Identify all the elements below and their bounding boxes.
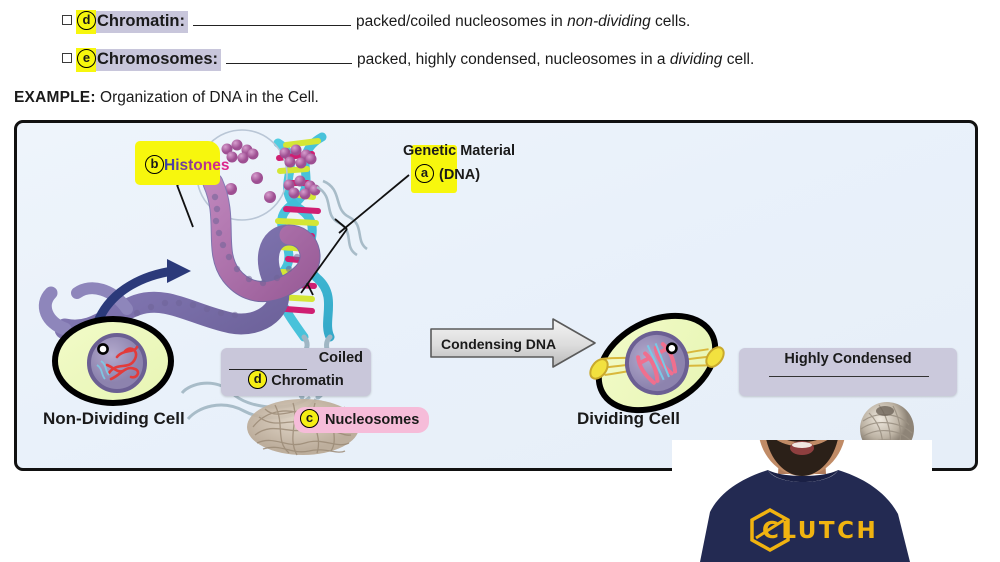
badge-e: e	[77, 49, 96, 68]
chromatin-label-text: Chromatin	[271, 373, 344, 389]
histone-label-text: Histones	[164, 157, 229, 174]
condensing-dna-label: Condensing DNA	[441, 336, 556, 352]
genetic-material-sub: a(DNA)	[415, 165, 480, 184]
nucleosomes-label-pill: cNucleosomes	[294, 407, 429, 433]
example-text: Organization of DNA in the Cell.	[96, 89, 319, 106]
histone-label: bHistones	[145, 156, 229, 175]
badge-a: a	[415, 164, 434, 183]
badge-d-figure: d	[248, 370, 267, 389]
tail-post-e: cell.	[722, 51, 754, 68]
nucleosomes-label-text: Nucleosomes	[325, 412, 419, 428]
term-chromosomes: Chromosomes:	[96, 49, 221, 71]
solenoid-chromatin-fiber-icon	[45, 183, 310, 333]
coiled-label-text: Coiled	[221, 350, 371, 366]
tail-pre-e: packed, highly condensed, nucleosomes in…	[357, 51, 670, 68]
coiled-blank-line[interactable]	[229, 369, 307, 370]
dna-organization-figure: bHistones Genetic Material a(DNA) cNucle…	[14, 120, 978, 471]
note-line-chromosomes: eChromosomes:packed, highly condensed, n…	[62, 48, 754, 72]
dividing-cell-label: Dividing Cell	[577, 409, 680, 429]
checkbox-icon-e[interactable]	[62, 53, 72, 63]
tail-pre-d: packed/coiled nucleosomes in	[356, 13, 567, 30]
non-dividing-cell-icon	[55, 319, 171, 403]
highly-condensed-blank-line[interactable]	[769, 376, 929, 377]
tail-post-d: cells.	[651, 13, 691, 30]
badge-c: c	[300, 409, 319, 428]
highly-condensed-label: Highly Condensed	[739, 351, 957, 367]
badge-highlight-d: d	[76, 10, 96, 34]
badge-d: d	[77, 11, 96, 30]
tail-em-e: dividing	[670, 51, 723, 68]
tail-chromatin: packed/coiled nucleosomes in non-dividin…	[356, 13, 690, 31]
term-chromatin: Chromatin:	[96, 11, 188, 33]
non-dividing-cell-label: Non-Dividing Cell	[43, 409, 185, 429]
badge-highlight-e: e	[76, 48, 96, 72]
genetic-material-sub-text: (DNA)	[439, 167, 480, 183]
example-line: EXAMPLE: Organization of DNA in the Cell…	[14, 89, 319, 107]
tail-em-d: non-dividing	[567, 13, 651, 30]
note-line-chromatin: dChromatin:packed/coiled nucleosomes in …	[62, 10, 690, 34]
checkbox-icon-d[interactable]	[62, 15, 72, 25]
blank-answer-line-d[interactable]	[193, 13, 351, 26]
example-label: EXAMPLE:	[14, 89, 96, 106]
chromatin-label-row: dChromatin	[221, 371, 371, 390]
genetic-material-title: Genetic Material	[403, 143, 515, 159]
instructor-webcam-overlay: CLUTCH	[672, 440, 932, 562]
clutch-wordmark: CLUTCH	[762, 518, 878, 544]
badge-b: b	[145, 155, 164, 174]
blank-answer-line-e[interactable]	[226, 51, 352, 64]
tail-chromosomes: packed, highly condensed, nucleosomes in…	[357, 51, 754, 69]
